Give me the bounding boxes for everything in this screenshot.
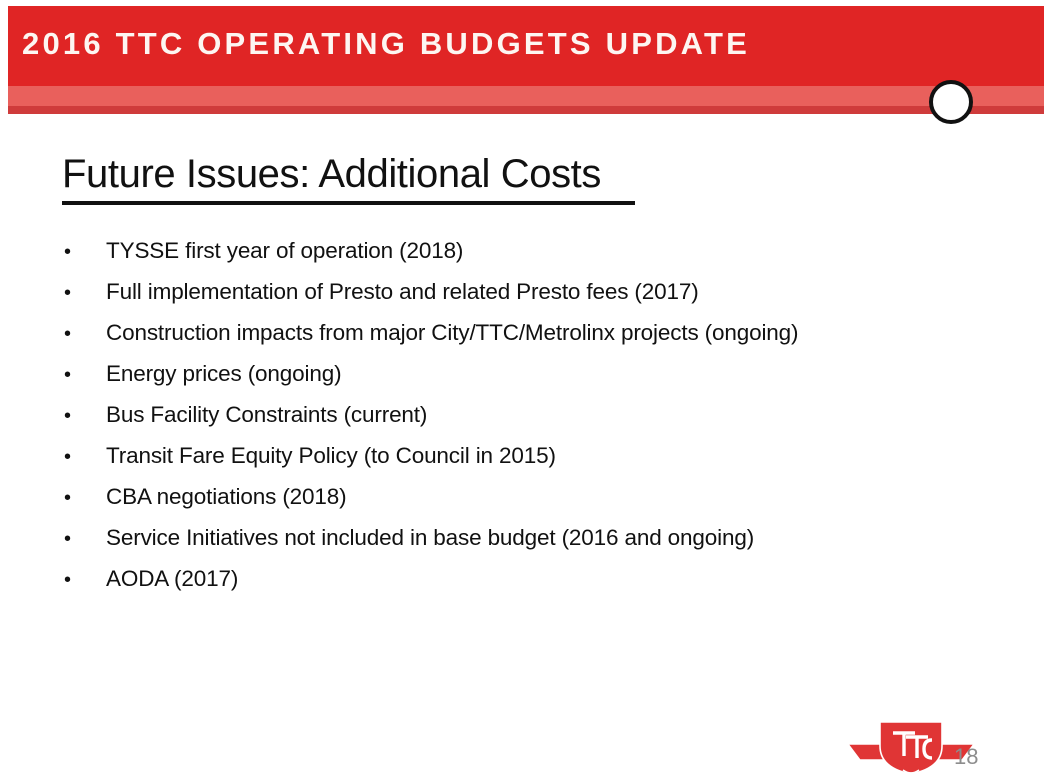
bullet-point-icon: • bbox=[58, 529, 106, 549]
bullet-point-icon: • bbox=[58, 447, 106, 467]
list-item-label: Full implementation of Presto and relate… bbox=[106, 279, 699, 305]
bullet-point-icon: • bbox=[58, 365, 106, 385]
page-title: Future Issues: Additional Costs bbox=[62, 152, 601, 197]
page-number: 18 bbox=[954, 744, 978, 770]
banner-light-stripe bbox=[8, 86, 1044, 106]
list-item-label: Service Initiatives not included in base… bbox=[106, 525, 754, 551]
list-item: • Full implementation of Presto and rela… bbox=[58, 279, 1018, 320]
list-item-label: Energy prices (ongoing) bbox=[106, 361, 341, 387]
list-item-label: Construction impacts from major City/TTC… bbox=[106, 320, 798, 346]
list-item: • Transit Fare Equity Policy (to Council… bbox=[58, 443, 1018, 484]
header-banner: 2016 TTC OPERATING BUDGETS UPDATE bbox=[8, 6, 1044, 114]
list-item: • Bus Facility Constraints (current) bbox=[58, 402, 1018, 443]
list-item: • Service Initiatives not included in ba… bbox=[58, 525, 1018, 566]
bullet-point-icon: • bbox=[58, 570, 106, 590]
list-item-label: Transit Fare Equity Policy (to Council i… bbox=[106, 443, 556, 469]
bullet-point-icon: • bbox=[58, 488, 106, 508]
slide-footer: 18 bbox=[846, 716, 1046, 778]
bullet-point-icon: • bbox=[58, 283, 106, 303]
list-item: • AODA (2017) bbox=[58, 566, 1018, 607]
banner-dark-stripe bbox=[8, 106, 1044, 114]
header-title: 2016 TTC OPERATING BUDGETS UPDATE bbox=[22, 26, 750, 62]
list-item: • TYSSE first year of operation (2018) bbox=[58, 238, 1018, 279]
page-title-underline bbox=[62, 201, 635, 205]
list-item-label: TYSSE first year of operation (2018) bbox=[106, 238, 463, 264]
list-item: • Energy prices (ongoing) bbox=[58, 361, 1018, 402]
list-item-label: CBA negotiations (2018) bbox=[106, 484, 346, 510]
bullet-point-icon: • bbox=[58, 406, 106, 426]
list-item-label: AODA (2017) bbox=[106, 566, 238, 592]
list-item-label: Bus Facility Constraints (current) bbox=[106, 402, 427, 428]
list-item: • CBA negotiations (2018) bbox=[58, 484, 1018, 525]
slide-canvas: 2016 TTC OPERATING BUDGETS UPDATE Future… bbox=[0, 0, 1060, 782]
bullet-point-icon: • bbox=[58, 324, 106, 344]
circle-marker-icon bbox=[929, 80, 973, 124]
bullet-list: • TYSSE first year of operation (2018) •… bbox=[58, 238, 1018, 607]
bullet-point-icon: • bbox=[58, 242, 106, 262]
list-item: • Construction impacts from major City/T… bbox=[58, 320, 1018, 361]
